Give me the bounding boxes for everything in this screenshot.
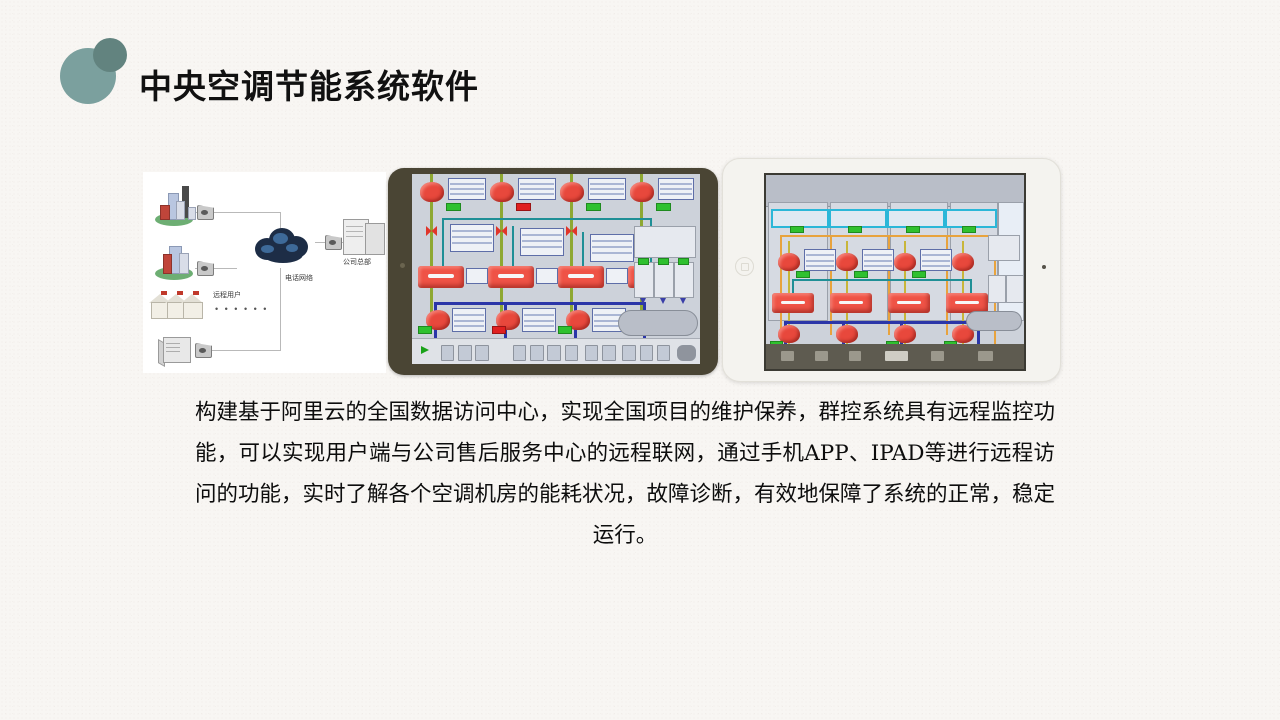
pipe-segment xyxy=(784,321,980,324)
media-row: 公司总部 电话网络 远程用户 • • • • • • xyxy=(0,150,1280,380)
status-led-on xyxy=(796,271,810,278)
diagram-line xyxy=(205,350,281,351)
house-icon xyxy=(181,294,203,318)
camera-icon xyxy=(400,263,405,268)
data-readout-box xyxy=(920,249,952,271)
pump-icon xyxy=(778,253,800,271)
page-title: 中央空调节能系统软件 xyxy=(139,60,479,108)
toolbar-icon[interactable] xyxy=(530,345,544,361)
pump-icon xyxy=(420,182,444,202)
data-readout-box xyxy=(452,308,486,332)
status-led-on xyxy=(418,326,432,334)
gauge-panel xyxy=(634,226,696,258)
camera-icon xyxy=(1042,265,1046,269)
toolbar-icon[interactable] xyxy=(602,345,616,361)
data-readout-box xyxy=(466,268,488,284)
gauge-panel xyxy=(634,262,654,298)
chiller-icon xyxy=(558,266,604,288)
status-led-on xyxy=(790,226,804,233)
pump-icon xyxy=(836,253,858,271)
gauge-panel xyxy=(988,235,1020,261)
data-readout-box xyxy=(658,178,694,200)
flow-arrow-icon xyxy=(680,298,686,304)
data-readout-box xyxy=(448,178,486,200)
toolbar-icon[interactable] xyxy=(657,345,671,361)
status-led-on xyxy=(446,203,461,211)
office-building-site-icon xyxy=(155,244,199,280)
pump-icon xyxy=(560,182,584,202)
pump-icon xyxy=(490,182,514,202)
toolbar-icon[interactable] xyxy=(640,345,654,361)
cloud-network-icon xyxy=(253,224,311,266)
data-readout-box xyxy=(520,228,564,256)
toolbar-icon[interactable] xyxy=(781,351,794,361)
headquarters-server-icon xyxy=(343,219,383,253)
toolbar-icon[interactable] xyxy=(815,351,828,361)
modem-icon xyxy=(195,343,212,358)
data-readout-box xyxy=(518,178,556,200)
label-headquarters: 公司总部 xyxy=(343,257,371,267)
toolbar-logo-icon[interactable] xyxy=(677,345,696,361)
home-button[interactable] xyxy=(735,257,754,276)
status-led-alarm xyxy=(492,326,506,334)
modem-icon xyxy=(325,235,342,250)
status-led-on xyxy=(678,258,689,265)
status-led-on xyxy=(962,226,976,233)
status-led-on xyxy=(638,258,649,265)
toolbar-label-chip[interactable] xyxy=(885,351,908,361)
flow-arrow-icon xyxy=(640,298,646,304)
diagram-line xyxy=(280,268,281,351)
toolbar-icon[interactable] xyxy=(849,351,862,361)
toolbar-icon[interactable] xyxy=(513,345,527,361)
ipad-tablet[interactable] xyxy=(722,158,1061,382)
data-readout-box xyxy=(450,224,494,252)
office-tower-site-icon xyxy=(155,186,199,226)
label-telephone-network: 电话网络 xyxy=(285,273,313,283)
status-led-on xyxy=(906,226,920,233)
status-led-on xyxy=(586,203,601,211)
gauge-panel xyxy=(988,275,1006,303)
pipe-segment xyxy=(442,218,652,220)
chiller-icon xyxy=(946,293,988,313)
data-readout-box xyxy=(590,234,634,262)
data-readout-box xyxy=(606,268,628,284)
tablet-screen-white[interactable] xyxy=(764,173,1026,371)
toolbar-icon[interactable] xyxy=(565,345,579,361)
network-diagram-image: 公司总部 电话网络 远程用户 • • • • • • xyxy=(143,172,386,373)
chiller-icon xyxy=(418,266,464,288)
pipe-segment xyxy=(434,302,646,305)
modem-icon xyxy=(197,205,214,220)
pump-icon xyxy=(630,182,654,202)
chiller-icon xyxy=(488,266,534,288)
modem-icon xyxy=(197,261,214,276)
status-led-on xyxy=(854,271,868,278)
toolbar-icon[interactable] xyxy=(547,345,561,361)
logo xyxy=(60,38,134,104)
status-led-alarm xyxy=(516,203,531,211)
ios-toolbar[interactable] xyxy=(766,344,1024,369)
toolbar-icon[interactable] xyxy=(475,345,489,361)
scada-mimic xyxy=(766,175,1024,369)
gauge-panel xyxy=(654,262,674,298)
status-led-on xyxy=(848,226,862,233)
android-tablet[interactable]: ▶ xyxy=(388,168,718,375)
status-led-on xyxy=(558,326,572,334)
data-readout-box xyxy=(862,249,894,271)
status-led-on xyxy=(658,258,669,265)
data-readout-box xyxy=(804,249,836,271)
chiller-icon xyxy=(888,293,930,313)
data-readout-box xyxy=(536,268,558,284)
server-cabinet-icon xyxy=(163,337,191,363)
gauge-panel xyxy=(1006,275,1024,303)
label-remote-users: 远程用户 xyxy=(213,290,241,300)
toolbar-icon[interactable] xyxy=(622,345,636,361)
toolbar-icon[interactable] xyxy=(585,345,599,361)
status-led-on xyxy=(912,271,926,278)
data-readout-box xyxy=(588,178,626,200)
gauge-panel xyxy=(674,262,694,298)
toolbar-icon[interactable] xyxy=(458,345,472,361)
label-ellipsis: • • • • • • xyxy=(215,304,268,314)
toolbar-icon[interactable] xyxy=(931,351,944,361)
flow-arrow-icon xyxy=(660,298,666,304)
pipe-segment xyxy=(792,279,972,281)
scada-toolbar[interactable]: ▶ xyxy=(412,338,700,364)
play-button[interactable]: ▶ xyxy=(421,346,429,354)
chiller-icon xyxy=(830,293,872,313)
status-led-on xyxy=(656,203,671,211)
toolbar-icon[interactable] xyxy=(441,345,455,361)
pump-icon xyxy=(952,253,974,271)
logo-small-circle-icon xyxy=(93,38,127,72)
chiller-icon xyxy=(772,293,814,313)
toolbar-icon[interactable] xyxy=(978,351,993,361)
tank-icon xyxy=(966,311,1022,331)
tank-icon xyxy=(618,310,698,336)
body-paragraph: 构建基于阿里云的全国数据访问中心，实现全国项目的维护保养，群控系统具有远程监控功… xyxy=(195,392,1055,556)
scada-mimic: ▶ xyxy=(412,174,700,364)
pump-icon xyxy=(836,325,858,343)
pump-icon xyxy=(894,253,916,271)
tablet-screen-dark[interactable]: ▶ xyxy=(412,174,700,364)
data-readout-box xyxy=(522,308,556,332)
